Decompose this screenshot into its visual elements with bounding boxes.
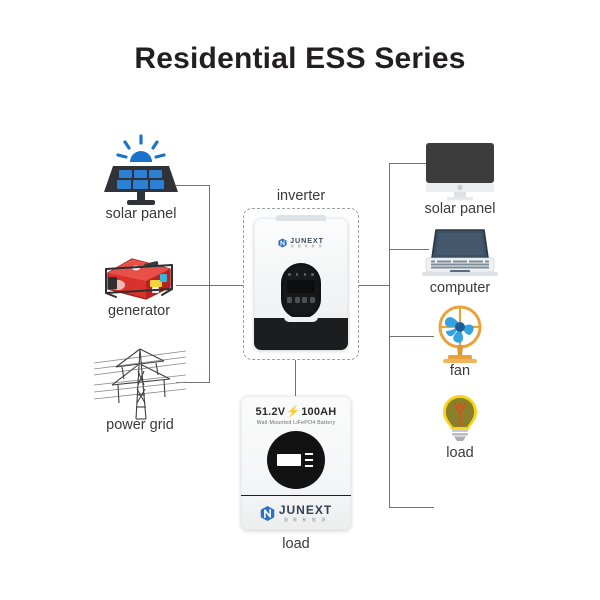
wire-bus-to-monitor	[389, 163, 429, 164]
source-power-grid[interactable]: power grid	[92, 345, 188, 421]
wire-inverter-to-battery	[295, 360, 296, 397]
inverter-brand-name: JUNEXT	[290, 237, 324, 244]
inverter-body: JUNEXT 骏 能 新 能 源	[254, 218, 348, 350]
monitor-icon	[424, 141, 496, 201]
laptop-icon	[422, 228, 498, 280]
inverter-brand-logo: JUNEXT 骏 能 新 能 源	[254, 235, 348, 250]
inverter-base	[254, 318, 348, 350]
generator-icon	[96, 247, 182, 307]
battery-brand-name: JUNEXT	[279, 504, 332, 516]
output-load-bulb[interactable]: load	[440, 393, 480, 445]
inverter-handle	[284, 317, 318, 322]
source-solar-panel[interactable]: solar panel	[96, 134, 186, 212]
battery-divider	[241, 495, 351, 496]
battery-unit[interactable]: 51.2V ⚡ 100AH Wall-Mounted LiFePO4 Batte…	[241, 396, 351, 530]
fan-icon	[434, 305, 486, 367]
inverter-unit[interactable]: JUNEXT 骏 能 新 能 源	[243, 208, 359, 360]
lightbulb-icon	[440, 393, 480, 445]
inverter-brand-sub: 骏 能 新 能 源	[291, 245, 323, 248]
battery-description: Wall-Mounted LiFePO4 Battery	[241, 420, 351, 426]
inverter-vent	[276, 215, 326, 221]
battery-brand-logo: JUNEXT 骏 能 新 能 源	[241, 502, 351, 524]
inverter-display-panel[interactable]	[281, 263, 321, 319]
battery-label: load	[216, 536, 376, 552]
wire-bus-to-fan	[389, 336, 434, 337]
output-fan[interactable]: fan	[434, 305, 486, 367]
lightning-bolt-icon: ⚡	[286, 405, 300, 418]
transmission-tower-icon	[92, 345, 188, 421]
output-computer[interactable]: computer	[422, 228, 498, 280]
battery-indicator-disc	[267, 431, 325, 489]
output-load-label: load	[380, 445, 540, 461]
battery-brand-sub: 骏 能 新 能 源	[284, 518, 328, 522]
battery-capacity: 100AH	[301, 406, 336, 418]
battery-voltage: 51.2V	[256, 406, 286, 418]
battery-body: 51.2V ⚡ 100AH Wall-Mounted LiFePO4 Batte…	[241, 396, 351, 530]
source-power-grid-label: power grid	[60, 417, 220, 433]
battery-spec: 51.2V ⚡ 100AH	[241, 405, 351, 418]
solar-panel-icon	[96, 134, 186, 212]
output-monitor-label: solar panel	[380, 201, 540, 217]
output-computer-label: computer	[380, 280, 540, 296]
inverter-status-leds	[288, 273, 314, 276]
page-title: Residential ESS Series	[0, 42, 600, 76]
inverter-label: inverter	[221, 188, 381, 204]
source-generator-label: generator	[59, 303, 219, 319]
inverter-buttons[interactable]	[287, 297, 315, 303]
diagram-canvas: Residential ESS Series	[0, 0, 600, 600]
output-monitor[interactable]: solar panel	[424, 141, 496, 201]
inverter-lcd	[287, 280, 315, 293]
wire-bus-to-inverter	[209, 285, 244, 286]
junext-hex-logo-icon	[260, 505, 275, 522]
source-solar-panel-label: solar panel	[61, 206, 221, 222]
source-generator[interactable]: generator	[96, 247, 182, 307]
output-fan-label: fan	[380, 363, 540, 379]
junext-hex-logo-icon	[278, 238, 287, 248]
wire-bus-to-load	[389, 507, 434, 508]
